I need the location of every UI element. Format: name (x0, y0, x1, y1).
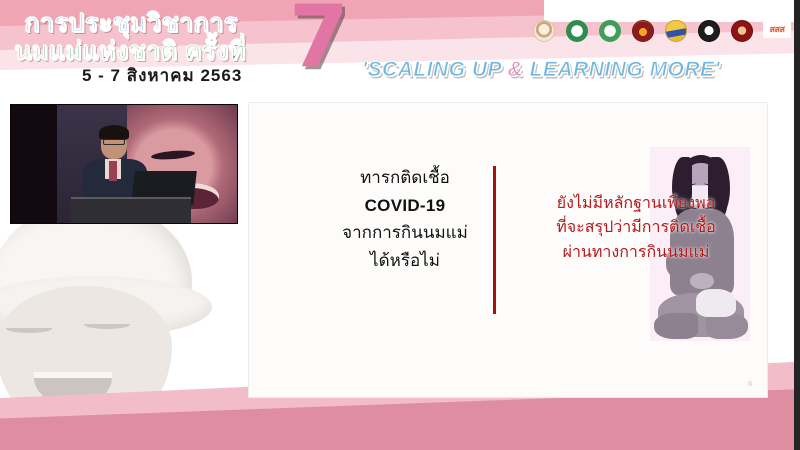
header-white-right-patch (544, 0, 794, 22)
question-line-3: จากการกินนมแม่ (326, 219, 484, 247)
answer-text-block: ยังไม่มีหลักฐานเพียงพอ ที่จะสรุปว่ามีการ… (505, 192, 767, 265)
video-podium (71, 197, 191, 223)
question-line-2: COVID-19 (326, 192, 484, 220)
video-speaker-hair (99, 125, 129, 140)
answer-line-2: ที่จะสรุปว่ามีการติดเชื้อ (505, 216, 767, 240)
logo-garuda-mark (665, 20, 687, 42)
logo-national-emblem-icon (630, 20, 656, 50)
slide-page-number: 6 (748, 381, 752, 388)
logo-royal-emblem-icon (531, 20, 557, 50)
speaker-video-thumbnail[interactable] (10, 104, 238, 224)
organization-logos: สสส (531, 20, 792, 50)
bottom-ribbon-base (0, 434, 794, 450)
question-line-1: ทารกติดเชื้อ (326, 164, 484, 192)
tagline-part2: LEARNING MORE' (523, 58, 720, 81)
conference-edition-number: 7 (289, 0, 349, 80)
logo-black-seal-mark (698, 20, 720, 42)
logo-thaihealth-icon: สสส (762, 20, 792, 50)
watermark-eye-left (6, 324, 52, 333)
logo-garuda-icon (663, 20, 689, 50)
tagline-ampersand: & (508, 58, 524, 81)
logo-red-seal-mark (731, 20, 753, 42)
video-dark-region (11, 105, 59, 223)
video-speaker-tie (109, 161, 117, 181)
illustration-mother-hand (690, 273, 714, 289)
logo-department-health-icon (597, 20, 623, 50)
slide-body: ทารกติดเชื้อ COVID-19 จากการกินนมแม่ ได้… (0, 96, 794, 450)
answer-line-3: ผ่านทางการกินนมแม่ (505, 241, 767, 265)
red-vertical-divider (493, 166, 496, 314)
watermark-eye-right (84, 320, 130, 329)
logo-thaihealth-mark: สสส (763, 20, 791, 38)
question-line-4: ได้หรือไม่ (326, 247, 484, 275)
logo-department-mark (599, 20, 621, 42)
tagline-part1: 'SCALING UP (362, 58, 508, 81)
logo-ministry-mark (566, 20, 588, 42)
illustration-cloth (696, 289, 736, 317)
logo-ministry-public-health-icon (564, 20, 590, 50)
logo-national-mark (632, 20, 654, 42)
conference-tagline: 'SCALING UP & LEARNING MORE' (362, 58, 720, 82)
logo-royal-emblem-mark (533, 20, 555, 42)
video-speaker-glasses (103, 139, 125, 145)
logo-red-seal-icon (729, 20, 755, 50)
window-right-edge (794, 0, 800, 450)
logo-black-seal-icon (696, 20, 722, 50)
illustration-leg-left (654, 313, 698, 339)
conference-date: 5 - 7 สิงหาคม 2563 (82, 62, 242, 89)
question-text-block: ทารกติดเชื้อ COVID-19 จากการกินนมแม่ ได้… (326, 164, 484, 274)
answer-line-1: ยังไม่มีหลักฐานเพียงพอ (505, 192, 767, 216)
slide-presentation-screenshot: การประชุมวิชาการ นมแม่แห่งชาติ ครั้งที่ … (0, 0, 800, 450)
